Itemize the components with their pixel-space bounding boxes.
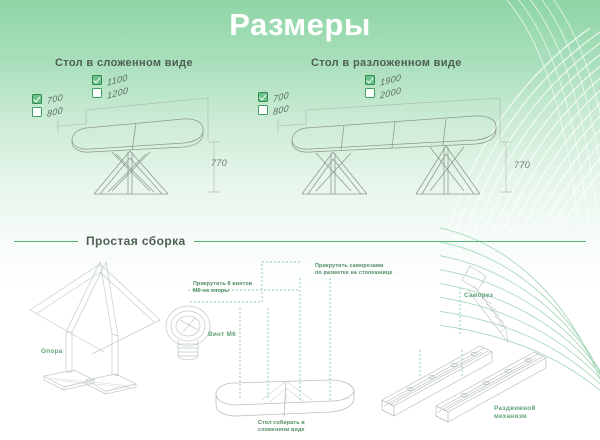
part-label-screw: Саморез — [464, 292, 493, 300]
part-label-bolt: Винт М6 — [208, 331, 236, 339]
part-label-slide-mechanism: Раздвижной механизм — [494, 405, 536, 420]
option-row[interactable]: 1200 — [92, 87, 128, 98]
folded-depth-options: 700 800 — [32, 93, 63, 119]
option-row[interactable]: 1100 — [92, 74, 128, 85]
page-title: Размеры — [0, 6, 600, 44]
checkbox-unchecked-icon[interactable] — [258, 105, 268, 115]
option-row[interactable]: 800 — [32, 106, 63, 117]
option-label: 800 — [47, 105, 63, 119]
option-row[interactable]: 700 — [32, 93, 63, 104]
option-label: 700 — [273, 90, 289, 104]
unfolded-table-drawing — [252, 86, 517, 201]
option-label: 1100 — [107, 72, 128, 87]
option-row[interactable]: 800 — [258, 104, 289, 115]
option-label: 800 — [273, 103, 289, 117]
option-row[interactable]: 2000 — [365, 87, 401, 98]
divider-right — [194, 241, 586, 242]
folded-height-value: 770 — [211, 158, 227, 168]
unfolded-height-value: 770 — [514, 160, 530, 170]
note-assemble-folded: Стол собирать в сложенном виде — [258, 420, 305, 433]
checkbox-unchecked-icon[interactable] — [92, 88, 102, 98]
option-row[interactable]: 1900 — [365, 74, 401, 85]
assembly-header: Простая сборка — [14, 232, 586, 250]
folded-width-options: 1100 1200 — [92, 74, 128, 100]
checkbox-checked-icon[interactable] — [32, 94, 42, 104]
unfolded-width-options: 1900 2000 — [365, 74, 401, 100]
option-label: 1900 — [380, 72, 401, 87]
part-label-support: Опора — [41, 348, 62, 356]
unfolded-depth-options: 700 800 — [258, 91, 289, 117]
note-bolts: Прикрутить 8 винтов М6 на опоры — [193, 281, 252, 294]
section-title-folded: Стол в сложенном виде — [55, 57, 193, 69]
option-label: 700 — [47, 92, 63, 106]
assembly-title: Простая сборка — [86, 234, 186, 248]
option-row[interactable]: 700 — [258, 91, 289, 102]
section-title-unfolded: Стол в разложенном виде — [311, 57, 462, 69]
checkbox-checked-icon[interactable] — [365, 75, 375, 85]
divider-left — [14, 241, 78, 242]
poster-page: Размеры Стол в сложенном виде 1100 1200 … — [0, 0, 600, 440]
option-label: 2000 — [380, 85, 401, 100]
option-label: 1200 — [107, 85, 128, 100]
checkbox-checked-icon[interactable] — [258, 92, 268, 102]
note-self-tapping: Прикрутить саморезами по разметке на сто… — [315, 263, 393, 276]
checkbox-checked-icon[interactable] — [92, 75, 102, 85]
checkbox-unchecked-icon[interactable] — [365, 88, 375, 98]
checkbox-unchecked-icon[interactable] — [32, 107, 42, 117]
